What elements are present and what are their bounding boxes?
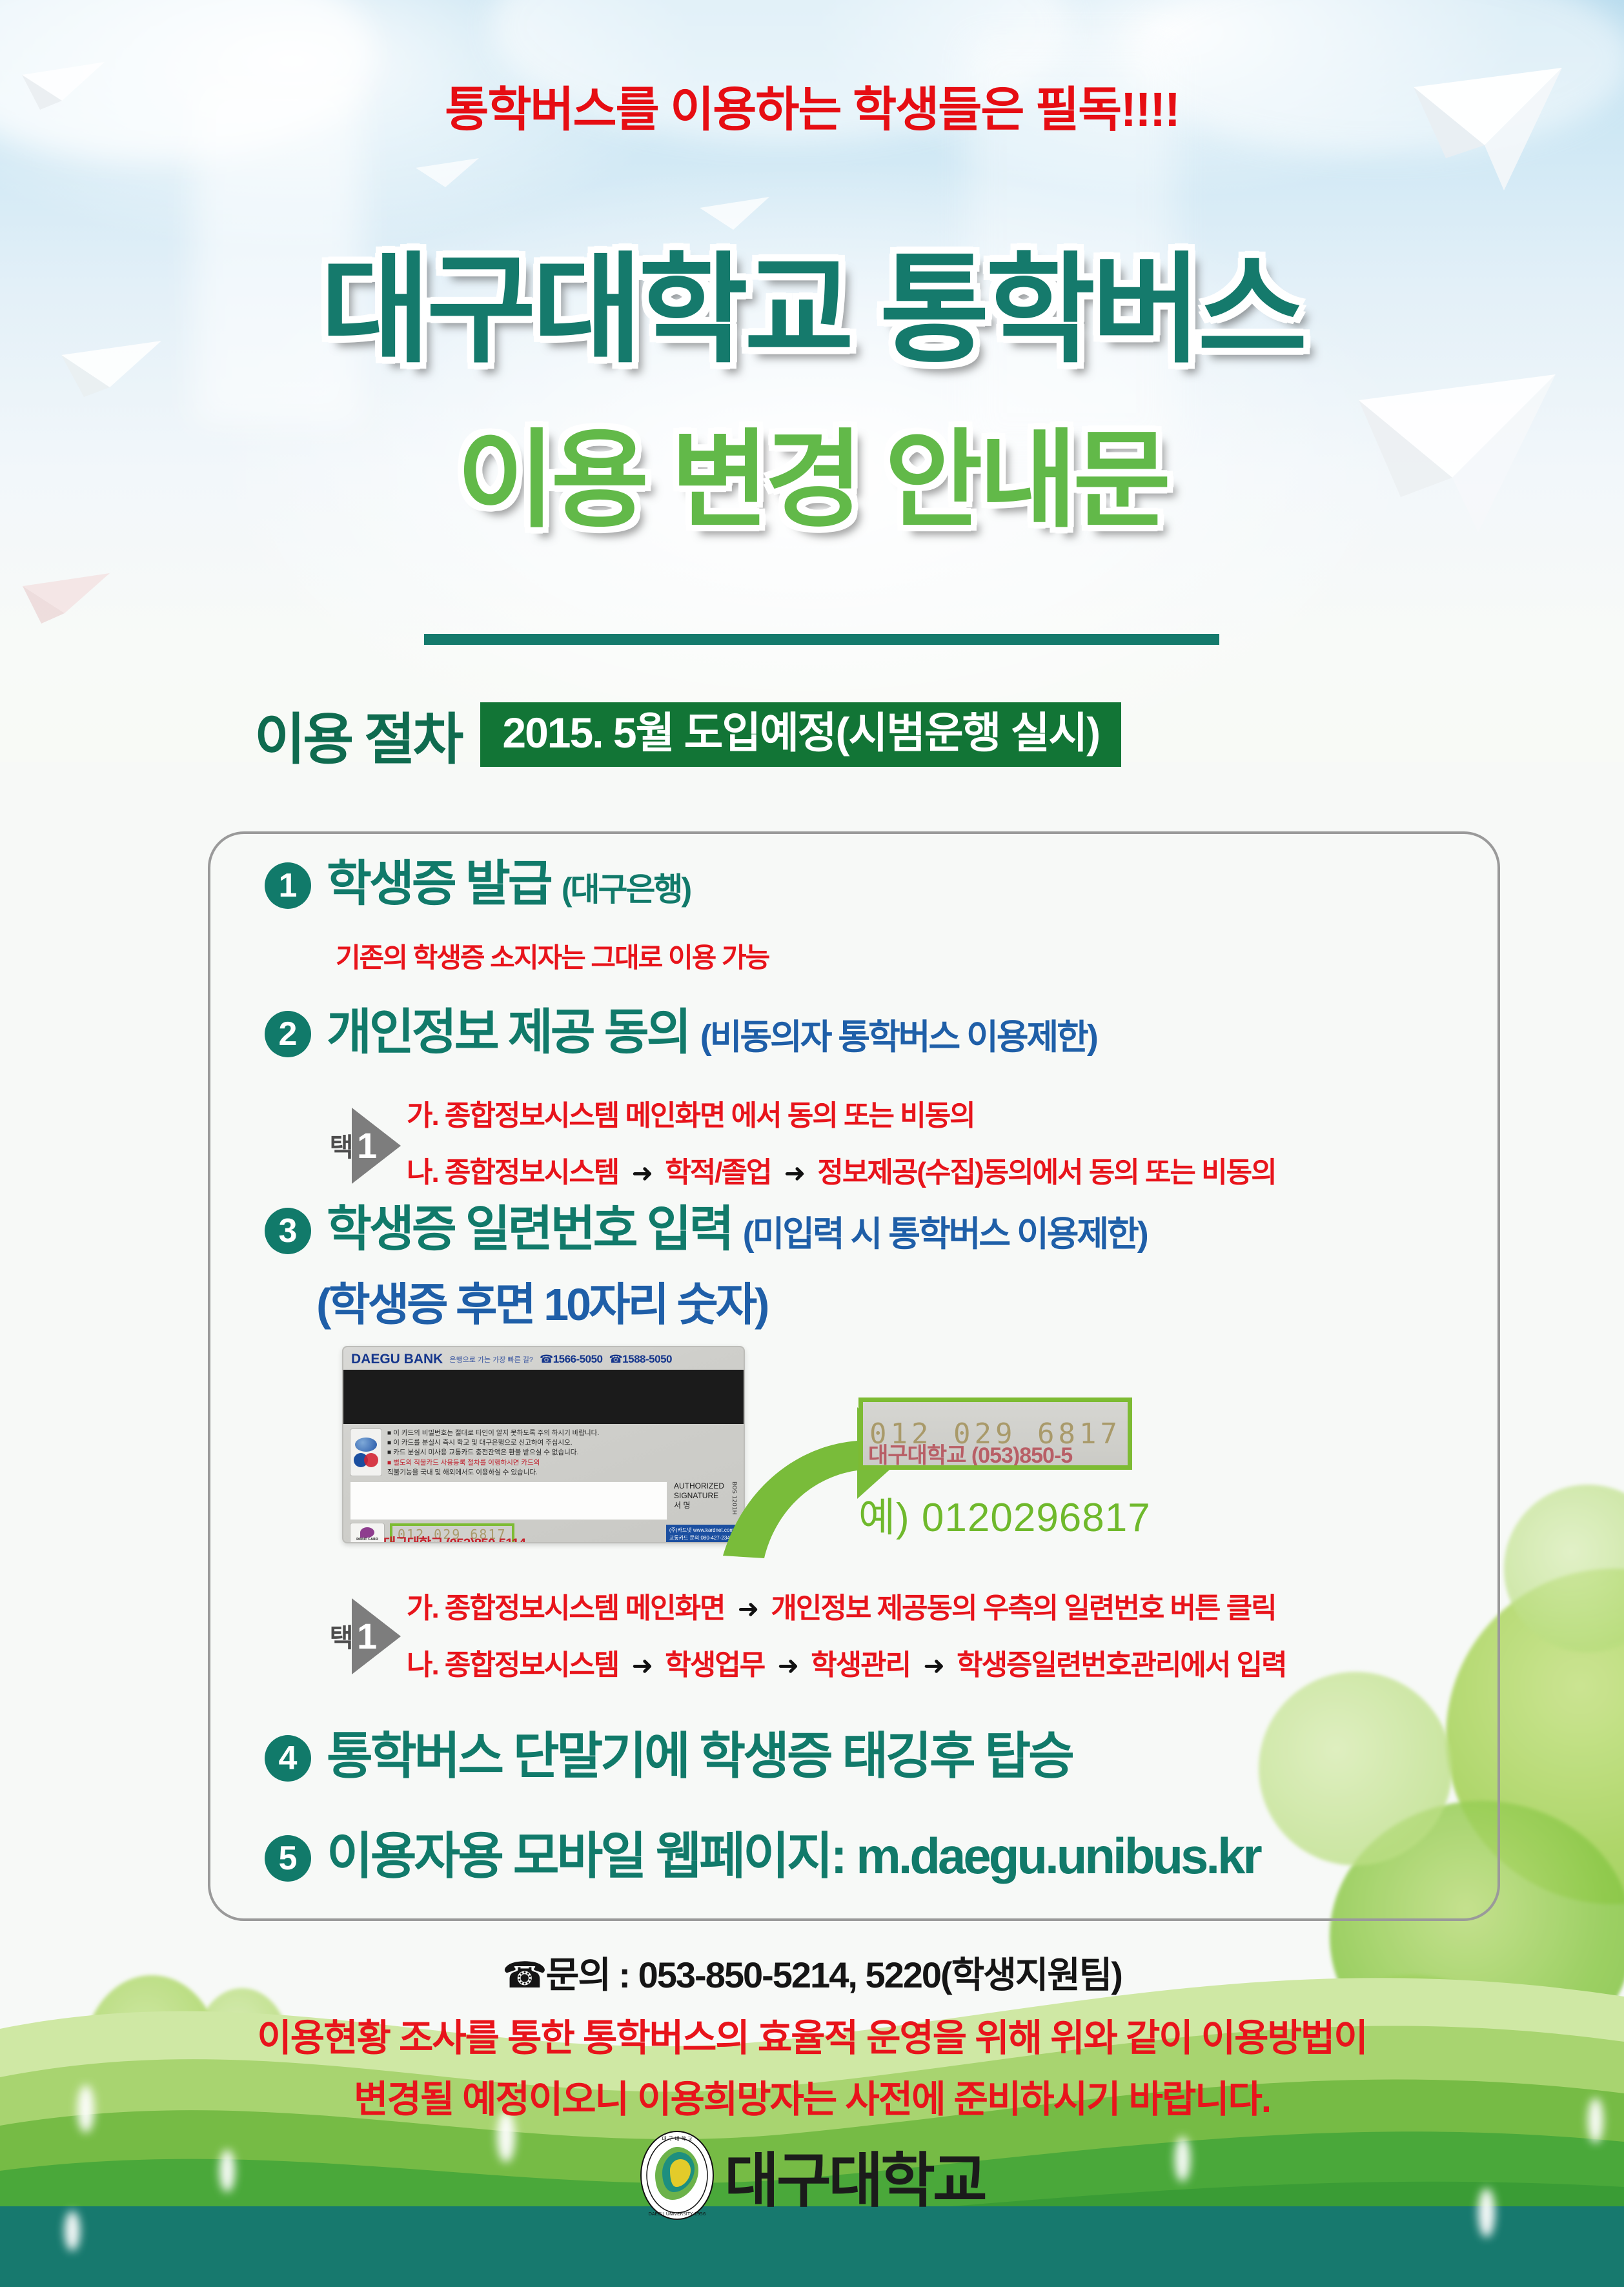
step-2-option-a: 가. 종합정보시스템 메인화면 에서 동의 또는 비동의 — [407, 1092, 975, 1133]
card-note-3: ■ 카드 분실시 미사용 교통카드 충전잔액은 환불 받으실 수 없습니다. — [387, 1448, 737, 1458]
pick-one-marker-step2: 택 1 — [326, 1097, 401, 1194]
card-header: DAEGU BANK 은행으로 가는 가장 빠른 길? ☎1566-5050 ☎… — [343, 1347, 744, 1370]
section-header: 이용 절차 2015. 5월 도입예정(시범운행 실시) — [254, 694, 1121, 775]
step-number-4: 4 — [265, 1735, 311, 1782]
step-4: 4 통학버스 단말기에 학생증 태깅후 탑승 — [265, 1730, 1072, 1783]
arrow-right-icon: ➜ — [731, 1595, 765, 1623]
card-note-2: ■ 이 카드를 분실시 즉시 학교 및 대구은행으로 신고하여 주십시오. — [387, 1438, 737, 1448]
kicker-headline: 통학버스를 이용하는 학생들은 필독!!!! — [0, 71, 1624, 140]
arrow-right-icon: ➜ — [917, 1652, 950, 1680]
step-2-option-b-b: 학적/졸업 — [665, 1157, 771, 1188]
university-logo: 대 구 대 학 교 DAEGU UNIVERSITY 1956 대구대학교 — [0, 2130, 1624, 2221]
step-3-option-b-d: 학생증일련번호관리에서 입력 — [957, 1649, 1286, 1681]
notice-line-2: 변경될 예정이오니 이용희망자는 사전에 준비하시기 바랍니다. — [0, 2069, 1624, 2123]
cirrus-maestro-logo — [350, 1428, 382, 1476]
step-1: 1 학생증 발급 (대구은행) — [265, 859, 690, 910]
poster-title-line2: 이용 변경 안내문 — [0, 394, 1624, 548]
card-note-1: ■ 이 카드의 비밀번호는 절대로 타인이 알지 못하도록 주의 하시기 바랍니… — [387, 1428, 737, 1438]
step-2-option-b-c: 정보제공(수집)동의에서 동의 또는 비동의 — [817, 1157, 1275, 1188]
pick-triangle-icon: 1 — [352, 1108, 401, 1184]
step-number-3: 3 — [265, 1208, 311, 1254]
step-3-subline: (학생증 후면 10자리 숫자) — [316, 1268, 767, 1334]
step-3-option-a: 가. 종합정보시스템 메인화면 ➜ 개인정보 제공동의 우측의 일련번호 버튼 … — [407, 1585, 1276, 1626]
step-2-option-b-a: 나. 종합정보시스템 — [407, 1157, 618, 1188]
signature-row: AUTHORIZED SIGNATURE 서 명 BOS 1201H — [343, 1478, 744, 1520]
step-3-main: 학생증 일련번호 입력 — [327, 1202, 732, 1257]
step-1-main: 학생증 발급 — [327, 857, 551, 911]
step-1-title: 학생증 발급 (대구은행) — [327, 859, 690, 910]
debit-card-icon: DEBIT CARD — [350, 1523, 385, 1543]
serial-zoom-callout: 012 029 6817 대구대학교 (053)850-5 — [858, 1398, 1132, 1470]
bank-tel-2: ☎1588-5050 — [609, 1353, 672, 1366]
svg-text:DAEGU UNIVERSITY 1956: DAEGU UNIVERSITY 1956 — [649, 2211, 706, 2217]
pick-number: 1 — [357, 1618, 377, 1654]
university-tel: 대구대학교 (053)850-5114 — [383, 1533, 525, 1543]
card-body: ■ 이 카드의 비밀번호는 절대로 타인이 알지 못하도록 주의 하시기 바랍니… — [343, 1424, 744, 1478]
step-2-title: 개인정보 제공 동의 (비동의자 통학버스 이용제한) — [327, 1007, 1097, 1059]
svg-text:대 구 대 학 교: 대 구 대 학 교 — [662, 2135, 693, 2142]
step-4-title: 통학버스 단말기에 학생증 태깅후 탑승 — [327, 1730, 1072, 1783]
card-note-5: 직불기능을 국내 및 해외에서도 이용하실 수 있습니다. — [387, 1468, 737, 1478]
arrow-right-icon: ➜ — [625, 1159, 659, 1188]
pick-triangle-icon: 1 — [352, 1598, 401, 1674]
poster-root: 통학버스를 이용하는 학생들은 필독!!!! 대구대학교 통학버스 이용 변경 … — [0, 0, 1624, 2287]
pick-label: 택 — [326, 1133, 352, 1159]
card-bottom: DEBIT CARD 012 029 6817 대구대학교 (053)850-5… — [343, 1520, 744, 1543]
title-divider — [424, 634, 1219, 645]
step-3-title: 학생증 일련번호 입력 (미입력 시 통학버스 이용제한) — [327, 1204, 1147, 1255]
signature-strip — [350, 1481, 667, 1520]
magnetic-stripe — [343, 1370, 744, 1424]
mobile-web-url[interactable]: m.daegu.unibus.kr — [856, 1827, 1259, 1884]
arrow-right-icon: ➜ — [771, 1652, 804, 1680]
step-3-option-b-a: 나. 종합정보시스템 — [407, 1649, 618, 1681]
card-note-4: ■ 별도의 직불카드 사용등록 절차를 이행하시면 카드의 — [387, 1458, 737, 1468]
step-1-paren: (대구은행) — [562, 871, 690, 908]
bank-slogan: 은행으로 가는 가장 빠른 길? — [449, 1354, 533, 1365]
paper-plane-icon — [413, 155, 484, 207]
step-3-paren: (미입력 시 통학버스 이용제한) — [743, 1215, 1147, 1254]
contact-line: ☎문의 : 053-850-5214, 5220(학생지원팀) — [0, 1946, 1624, 1998]
pick-number: 1 — [357, 1128, 377, 1164]
step-2-option-a-text: 가. 종합정보시스템 메인화면 에서 동의 또는 비동의 — [407, 1100, 975, 1132]
poster-title-line1: 대구대학교 통학버스 — [0, 213, 1624, 386]
notice-line-1: 이용현황 조사를 통한 통학버스의 효율적 운영을 위해 위와 같이 이용방법이 — [0, 2007, 1624, 2062]
paper-plane-icon — [19, 568, 116, 639]
debit-card-label: DEBIT CARD — [356, 1538, 378, 1541]
pick-label: 택 — [326, 1624, 352, 1649]
step-3-option-a-a: 가. 종합정보시스템 메인화면 — [407, 1592, 724, 1624]
card-notes: ■ 이 카드의 비밀번호는 절대로 타인이 알지 못하도록 주의 하시기 바랍니… — [387, 1428, 737, 1478]
step-2: 2 개인정보 제공 동의 (비동의자 통학버스 이용제한) — [265, 1007, 1097, 1059]
step-2-option-b: 나. 종합정보시스템 ➜ 학적/졸업 ➜ 정보제공(수집)동의에서 동의 또는 … — [407, 1149, 1276, 1190]
kardnet-name: (주)카드넷 — [669, 1527, 692, 1533]
step-5-main: 이용자용 모바일 웹페이지: — [327, 1827, 845, 1884]
arrow-right-icon: ➜ — [778, 1159, 811, 1188]
step-3-option-b-b: 학생업무 — [665, 1649, 764, 1681]
university-wordmark: 대구대학교 — [724, 2133, 984, 2219]
university-seal-icon: 대 구 대 학 교 DAEGU UNIVERSITY 1956 — [639, 2130, 715, 2221]
bank-tel-1: ☎1566-5050 — [540, 1353, 602, 1366]
serial-example-text: 예) 0120296817 — [858, 1485, 1151, 1543]
zoom-ghost-text: 대구대학교 (053)850-5 — [868, 1438, 1072, 1469]
step-number-5: 5 — [265, 1835, 311, 1882]
step-2-paren: (비동의자 통학버스 이용제한) — [700, 1018, 1097, 1057]
step-5-title: 이용자용 모바일 웹페이지: m.daegu.unibus.kr — [327, 1830, 1260, 1883]
section-badge: 2015. 5월 도입예정(시범운행 실시) — [480, 702, 1121, 767]
bank-name: DAEGU BANK — [351, 1352, 443, 1367]
arrow-right-icon: ➜ — [625, 1652, 659, 1680]
step-3-option-b-c: 학생관리 — [811, 1649, 910, 1681]
step-5: 5 이용자용 모바일 웹페이지: m.daegu.unibus.kr — [265, 1830, 1260, 1883]
step-3: 3 학생증 일련번호 입력 (미입력 시 통학버스 이용제한) — [265, 1204, 1147, 1255]
step-3-option-b: 나. 종합정보시스템 ➜ 학생업무 ➜ 학생관리 ➜ 학생증일련번호관리에서 입… — [407, 1642, 1286, 1683]
student-card-image: DAEGU BANK 은행으로 가는 가장 빠른 길? ☎1566-5050 ☎… — [342, 1346, 745, 1543]
section-title: 이용 절차 — [254, 694, 461, 775]
step-3-option-a-b: 개인정보 제공동의 우측의 일련번호 버튼 클릭 — [771, 1592, 1275, 1624]
pick-one-marker-step3: 택 1 — [326, 1588, 401, 1685]
step-2-main: 개인정보 제공 동의 — [327, 1005, 689, 1060]
step-1-note: 기존의 학생증 소지자는 그대로 이용 가능 — [336, 936, 769, 975]
step-number-2: 2 — [265, 1011, 311, 1057]
step-number-1: 1 — [265, 862, 311, 909]
